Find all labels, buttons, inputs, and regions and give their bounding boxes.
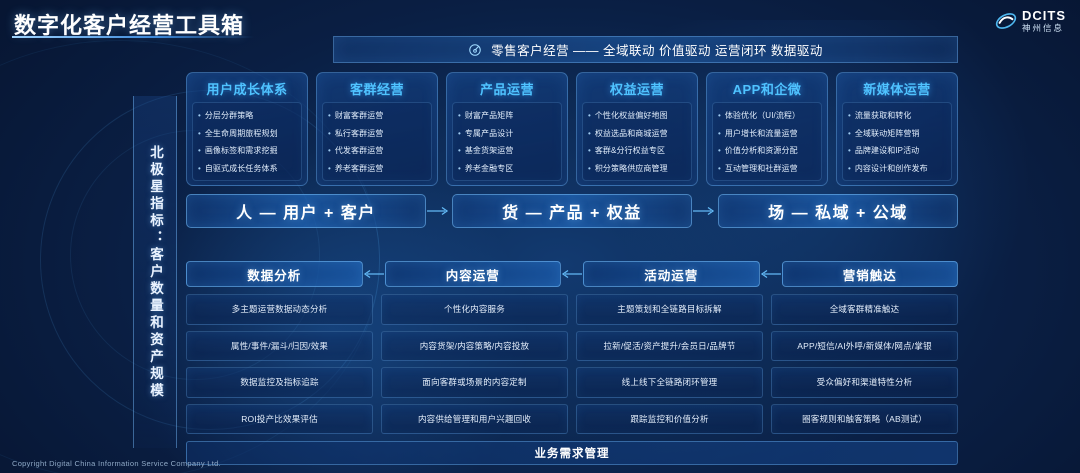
copyright-text: Copyright Digital China Information Serv… [12,459,221,468]
capability-cell[interactable]: ROI投产比效果评估 [186,404,373,435]
flow-box-goods[interactable]: 货 — 产品 + 权益 [452,194,692,228]
list-item: •流量获取和转化 [848,110,948,121]
bullet-dot-icon: • [328,147,331,155]
list-item: •全生命周期旅程规划 [198,128,298,139]
list-item: •互动管理和社群运营 [718,163,818,174]
list-item: •权益选品和商城运营 [588,128,688,139]
capability-column-content-ops: 个性化内容服务 内容货架/内容策略/内容投放 面向客群或场景的内容定制 内容供给… [381,294,568,434]
bullet-dot-icon: • [588,112,591,120]
arrow-right-icon [692,205,718,217]
card-title: 新媒体运营 [863,79,931,98]
domain-card-customer-group[interactable]: 客群经营 •财富客群运营 •私行客群运营 •代发客群运营 •养老客群运营 [316,72,438,186]
brand-logo: DCITS 神州信息 [995,9,1066,33]
capability-column-data-analysis: 多主题运营数据动态分析 属性/事件/漏斗/归因/效果 数据监控及指标追踪 ROI… [186,294,373,434]
flow-box-people[interactable]: 人 — 用户 + 客户 [186,194,426,228]
domain-card-user-growth[interactable]: 用户成长体系 •分层分群策略 •全生命周期旅程规划 •画像标签和需求挖掘 •自驱… [186,72,308,186]
arrow-left-icon [363,268,385,280]
capability-column-marketing-reach: 全域客群精准触达 APP/短信/AI外呼/新媒体/网点/掌银 受众偏好和渠道特性… [771,294,958,434]
section-title: 内容运营 [446,265,500,284]
list-item: •财富客群运营 [328,110,428,121]
list-item: •分层分群策略 [198,110,298,121]
capability-cell[interactable]: 圈客规则和触客策略（AB测试） [771,404,958,435]
capability-column-campaign-ops: 主题策划和全链路目标拆解 拉新/促活/资产提升/会员日/品牌节 线上线下全链路闭… [576,294,763,434]
domain-card-app-wecom[interactable]: APP和企微 •体验优化（UI/流程） •用户增长和流量运营 •价值分析和资源分… [706,72,828,186]
list-item: •养老金融专区 [458,163,558,174]
bullet-dot-icon: • [198,130,201,138]
bullet-dot-icon: • [198,112,201,120]
section-header-marketing-reach[interactable]: 营销触达 [782,261,959,287]
list-item: •私行客群运营 [328,128,428,139]
north-star-label: 北极星指标：客户数量和资产规模 [145,145,165,400]
list-item: •客群&分行权益专区 [588,145,688,156]
domain-card-benefits-ops[interactable]: 权益运营 •个性化权益偏好地图 •权益选品和商城运营 •客群&分行权益专区 •积… [576,72,698,186]
bullet-dot-icon: • [328,130,331,138]
flow-box-label: 场 — 私域 + 公域 [768,199,908,223]
flow-box-label: 货 — 产品 + 权益 [502,199,642,223]
flow-row: 人 — 用户 + 客户 货 — 产品 + 权益 场 — 私域 + 公域 [186,194,958,228]
card-bullet-list: •个性化权益偏好地图 •权益选品和商城运营 •客群&分行权益专区 •积分策略供应… [582,102,692,181]
section-title: 数据分析 [247,265,301,284]
card-bullet-list: •体验优化（UI/流程） •用户增长和流量运营 •价值分析和资源分配 •互动管理… [712,102,822,181]
list-item: •代发客群运营 [328,145,428,156]
section-header-row: 数据分析 内容运营 活动运营 营销触达 [186,261,958,287]
capability-cell[interactable]: 拉新/促活/资产提升/会员日/品牌节 [576,331,763,362]
card-title: 客群经营 [350,79,404,98]
card-title: APP和企微 [733,79,802,98]
north-star-indicator-bar: 北极星指标：客户数量和资产规模 [133,96,177,448]
list-item: •用户增长和流量运营 [718,128,818,139]
bullet-dot-icon: • [588,130,591,138]
card-bullet-list: •财富产品矩阵 •专属产品设计 •基金货架运营 •养老金融专区 [452,102,562,181]
bottom-bar-label: 业务需求管理 [535,445,610,461]
card-title: 产品运营 [480,79,534,98]
arrow-left-icon [561,268,583,280]
bullet-dot-icon: • [198,165,201,173]
capability-cell[interactable]: 内容供给管理和用户兴趣回收 [381,404,568,435]
bullet-dot-icon: • [458,165,461,173]
capability-cell[interactable]: 个性化内容服务 [381,294,568,325]
bullet-dot-icon: • [458,147,461,155]
list-item: •品牌建设和IP活动 [848,145,948,156]
bullet-dot-icon: • [848,165,851,173]
bullet-dot-icon: • [718,147,721,155]
arrow-left-icon [760,268,782,280]
domain-card-new-media[interactable]: 新媒体运营 •流量获取和转化 •全域联动矩阵营销 •品牌建设和IP活动 •内容设… [836,72,958,186]
domain-card-product-ops[interactable]: 产品运营 •财富产品矩阵 •专属产品设计 •基金货架运营 •养老金融专区 [446,72,568,186]
list-item: •财富产品矩阵 [458,110,558,121]
logo-text-cn: 神州信息 [1022,24,1066,33]
bottom-bar[interactable]: 业务需求管理 [186,441,958,465]
bullet-dot-icon: • [588,147,591,155]
bullet-dot-icon: • [848,147,851,155]
flow-box-scene[interactable]: 场 — 私域 + 公域 [718,194,958,228]
dcits-swirl-icon [995,10,1017,32]
list-item: •体验优化（UI/流程） [718,110,818,121]
section-title: 活动运营 [644,265,698,284]
section-title: 营销触达 [843,265,897,284]
bullet-dot-icon: • [328,112,331,120]
capability-cell[interactable]: APP/短信/AI外呼/新媒体/网点/掌银 [771,331,958,362]
section-header-data-analysis[interactable]: 数据分析 [186,261,363,287]
list-item: •价值分析和资源分配 [718,145,818,156]
flow-box-label: 人 — 用户 + 客户 [236,199,376,223]
capability-cell[interactable]: 受众偏好和渠道特性分析 [771,367,958,398]
bullet-dot-icon: • [718,112,721,120]
capability-cell[interactable]: 多主题运营数据动态分析 [186,294,373,325]
list-item: •全域联动矩阵营销 [848,128,948,139]
card-bullet-list: •分层分群策略 •全生命周期旅程规划 •画像标签和需求挖掘 •自驱式成长任务体系 [192,102,302,181]
bullet-dot-icon: • [848,130,851,138]
card-bullet-list: •流量获取和转化 •全域联动矩阵营销 •品牌建设和IP活动 •内容设计和创作发布 [842,102,952,181]
section-header-content-ops[interactable]: 内容运营 [385,261,562,287]
list-item: •养老客群运营 [328,163,428,174]
logo-text-en: DCITS [1022,9,1066,22]
top-banner: 零售客户经营 —— 全域联动 价值驱动 运营闭环 数据驱动 [333,36,958,63]
bullet-dot-icon: • [458,130,461,138]
banner-text: 零售客户经营 —— 全域联动 价值驱动 运营闭环 数据驱动 [491,40,823,59]
card-title: 用户成长体系 [206,79,287,98]
title-underline [12,36,254,38]
capability-cell[interactable]: 全域客群精准触达 [771,294,958,325]
capability-cell[interactable]: 主题策划和全链路目标拆解 [576,294,763,325]
bullet-dot-icon: • [328,165,331,173]
target-compass-icon [468,43,482,57]
arrow-right-icon [426,205,452,217]
bullet-dot-icon: • [718,130,721,138]
capability-grid: 多主题运营数据动态分析 属性/事件/漏斗/归因/效果 数据监控及指标追踪 ROI… [186,294,958,434]
card-bullet-list: •财富客群运营 •私行客群运营 •代发客群运营 •养老客群运营 [322,102,432,181]
capability-cell[interactable]: 线上线下全链路闭环管理 [576,367,763,398]
capability-cell[interactable]: 属性/事件/漏斗/归因/效果 [186,331,373,362]
list-item: •专属产品设计 [458,128,558,139]
card-title: 权益运营 [610,79,664,98]
bullet-dot-icon: • [198,147,201,155]
section-header-campaign-ops[interactable]: 活动运营 [583,261,760,287]
capability-cell[interactable]: 内容货架/内容策略/内容投放 [381,331,568,362]
bullet-dot-icon: • [458,112,461,120]
capability-cell[interactable]: 面向客群或场景的内容定制 [381,367,568,398]
bullet-dot-icon: • [848,112,851,120]
list-item: •基金货架运营 [458,145,558,156]
bullet-dot-icon: • [588,165,591,173]
list-item: •个性化权益偏好地图 [588,110,688,121]
bullet-dot-icon: • [718,165,721,173]
capability-cell[interactable]: 跟踪监控和价值分析 [576,404,763,435]
list-item: •画像标签和需求挖掘 [198,145,298,156]
domain-card-row: 用户成长体系 •分层分群策略 •全生命周期旅程规划 •画像标签和需求挖掘 •自驱… [186,72,958,186]
list-item: •积分策略供应商管理 [588,163,688,174]
list-item: •内容设计和创作发布 [848,163,948,174]
capability-cell[interactable]: 数据监控及指标追踪 [186,367,373,398]
list-item: •自驱式成长任务体系 [198,163,298,174]
